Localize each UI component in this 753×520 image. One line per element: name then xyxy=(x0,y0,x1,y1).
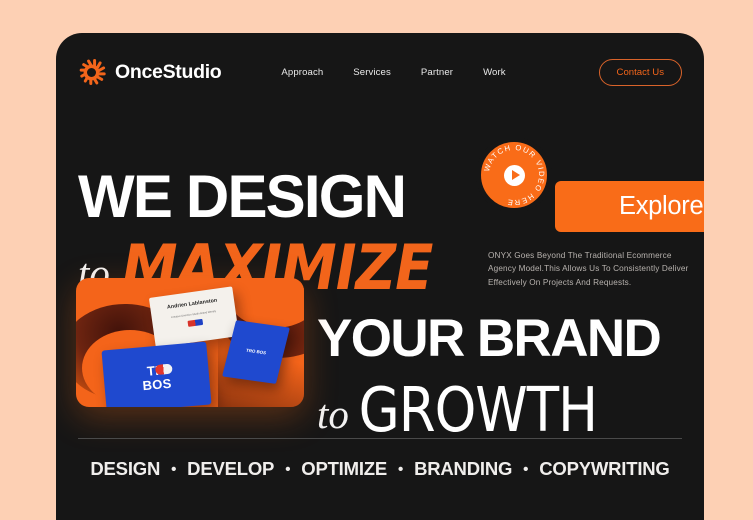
service-branding: BRANDING xyxy=(414,458,512,480)
service-design: DESIGN xyxy=(90,458,160,480)
headline-line-4-prefix: to xyxy=(317,394,349,435)
separator-dot: • xyxy=(285,462,290,477)
separator-dot: • xyxy=(171,462,176,477)
service-optimize: OPTIMIZE xyxy=(301,458,387,480)
watch-video-badge[interactable]: WATCH OUR VIDEO HERE xyxy=(476,137,552,213)
trobos-pill-icon xyxy=(155,364,173,375)
services-strip: DESIGN • DEVELOP • OPTIMIZE • BRANDING •… xyxy=(56,458,704,480)
brand-name: OnceStudio xyxy=(115,61,221,84)
nav-link-services[interactable]: Services xyxy=(353,67,391,78)
white-card-logo xyxy=(187,319,203,327)
hero-card: OnceStudio Approach Services Partner Wor… xyxy=(56,33,704,520)
nav-link-work[interactable]: Work xyxy=(483,67,506,78)
nav-links: Approach Services Partner Work xyxy=(281,67,505,78)
brand-logo[interactable]: OnceStudio xyxy=(76,57,221,87)
separator-dot: • xyxy=(523,462,528,477)
navigation-bar: OnceStudio Approach Services Partner Wor… xyxy=(56,33,704,111)
nav-link-partner[interactable]: Partner xyxy=(421,67,453,78)
separator-dot: • xyxy=(398,462,403,477)
nav-link-approach[interactable]: Approach xyxy=(281,67,323,78)
sunburst-icon xyxy=(76,57,106,87)
showcase-image[interactable]: Andrien Lablanston Creative Direction St… xyxy=(76,278,304,407)
trobos-line-2: BOS xyxy=(142,375,172,392)
headline-line-4: to GROWTH xyxy=(317,385,595,437)
divider xyxy=(78,438,682,439)
explore-label: Explore xyxy=(619,192,703,221)
explore-button[interactable]: Explore xyxy=(555,181,704,232)
headline-line-4-accent: GROWTH xyxy=(359,380,597,441)
hero-blurb: ONYX Goes Beyond The Traditional Ecommer… xyxy=(488,249,696,289)
small-card-logo: TRO BOS xyxy=(244,348,267,357)
service-develop: DEVELOP xyxy=(187,458,274,480)
trobos-logo: TR BOS xyxy=(141,363,172,392)
contact-us-button[interactable]: Contact Us xyxy=(599,59,682,86)
service-copywriting: COPYWRITING xyxy=(539,458,669,480)
headline-line-3: YOUR BRAND xyxy=(317,312,660,365)
blue-business-card: TR BOS xyxy=(101,342,211,407)
small-card-label: TRO BOS xyxy=(246,348,267,356)
headline-line-1: WE DESIGN xyxy=(78,167,405,227)
play-icon xyxy=(504,165,525,186)
